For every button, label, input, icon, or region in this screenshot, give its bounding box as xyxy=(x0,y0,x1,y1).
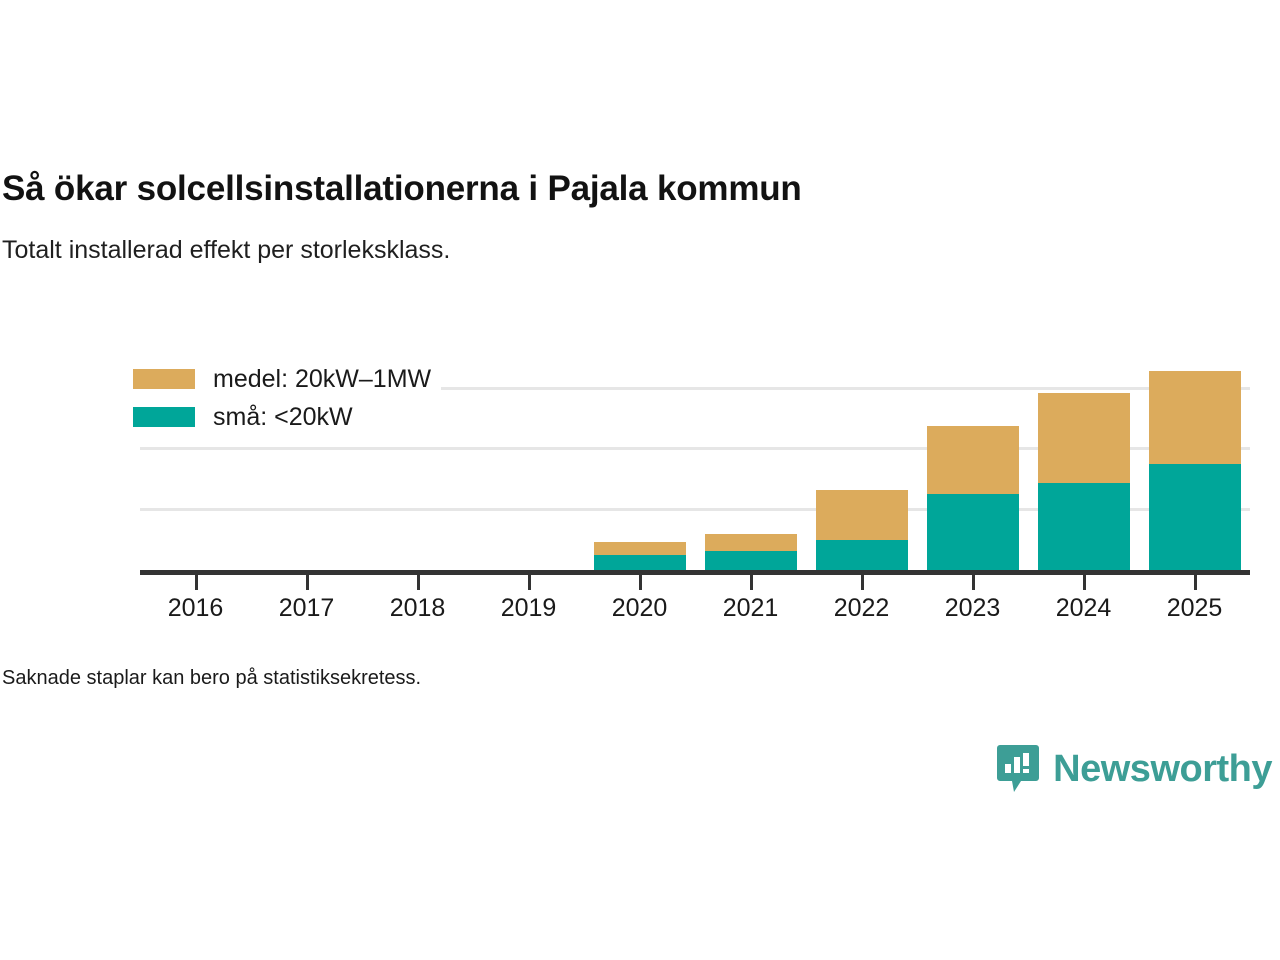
bar-segment-medel[interactable] xyxy=(594,542,686,555)
legend-swatch xyxy=(133,369,195,389)
bar-slot[interactable] xyxy=(473,368,584,570)
x-axis-tick xyxy=(1083,575,1086,590)
legend-label: små: <20kW xyxy=(213,403,353,431)
bar-slot[interactable] xyxy=(584,368,695,570)
bar-stack[interactable] xyxy=(927,426,1019,570)
x-axis-tick xyxy=(861,575,864,590)
bar-segment-medel[interactable] xyxy=(1149,371,1241,464)
bar-segment-medel[interactable] xyxy=(816,490,908,540)
x-axis-tick xyxy=(528,575,531,590)
x-axis-tick xyxy=(417,575,420,590)
legend-item[interactable]: små: <20kW xyxy=(133,403,441,431)
headline-block: Så ökar solcellsinstallationerna i Pajal… xyxy=(0,168,1280,266)
bar-stack[interactable] xyxy=(1149,371,1241,570)
bar-slot[interactable] xyxy=(695,368,806,570)
bar-segment-medel[interactable] xyxy=(927,426,1019,494)
x-axis-tick xyxy=(972,575,975,590)
bar-segment-sma[interactable] xyxy=(816,540,908,570)
newsworthy-logo[interactable]: Newsworthy xyxy=(997,745,1272,793)
bar-slot[interactable] xyxy=(917,368,1028,570)
bar-slot[interactable] xyxy=(1028,368,1139,570)
chart-subtitle: Totalt installerad effekt per storlekskl… xyxy=(0,210,1280,266)
bar-stack[interactable] xyxy=(594,542,686,570)
bar-stack[interactable] xyxy=(1038,393,1130,570)
bar-stack[interactable] xyxy=(705,534,797,570)
x-axis-tick xyxy=(750,575,753,590)
chart-legend: medel: 20kW–1MWsmå: <20kW xyxy=(133,365,441,431)
bar-stack[interactable] xyxy=(816,490,908,570)
x-axis-labels: 2016201720182019202020212022202320242025 xyxy=(140,575,1250,630)
page-title: Så ökar solcellsinstallationerna i Pajal… xyxy=(0,168,1280,210)
bar-segment-sma[interactable] xyxy=(1038,483,1130,570)
bar-segment-sma[interactable] xyxy=(927,494,1019,570)
x-axis-label: 2025 xyxy=(1125,593,1265,623)
bar-segment-sma[interactable] xyxy=(1149,464,1241,570)
newsworthy-bar-chart-bubble-icon xyxy=(997,745,1039,793)
footnote: Saknade staplar kan bero på statistiksek… xyxy=(2,665,421,691)
bar-slot[interactable] xyxy=(1139,368,1250,570)
logo-text: Newsworthy xyxy=(1053,749,1272,789)
x-axis-tick xyxy=(639,575,642,590)
bar-slot[interactable] xyxy=(806,368,917,570)
chart-page: Så ökar solcellsinstallationerna i Pajal… xyxy=(0,0,1280,960)
x-axis-tick xyxy=(306,575,309,590)
bar-segment-medel[interactable] xyxy=(1038,393,1130,483)
legend-item[interactable]: medel: 20kW–1MW xyxy=(133,365,441,393)
legend-swatch xyxy=(133,407,195,427)
x-axis-tick xyxy=(195,575,198,590)
bar-segment-sma[interactable] xyxy=(705,551,797,570)
x-axis-tick xyxy=(1194,575,1197,590)
bar-segment-sma[interactable] xyxy=(594,555,686,570)
legend-label: medel: 20kW–1MW xyxy=(213,365,431,393)
bar-segment-medel[interactable] xyxy=(705,534,797,551)
